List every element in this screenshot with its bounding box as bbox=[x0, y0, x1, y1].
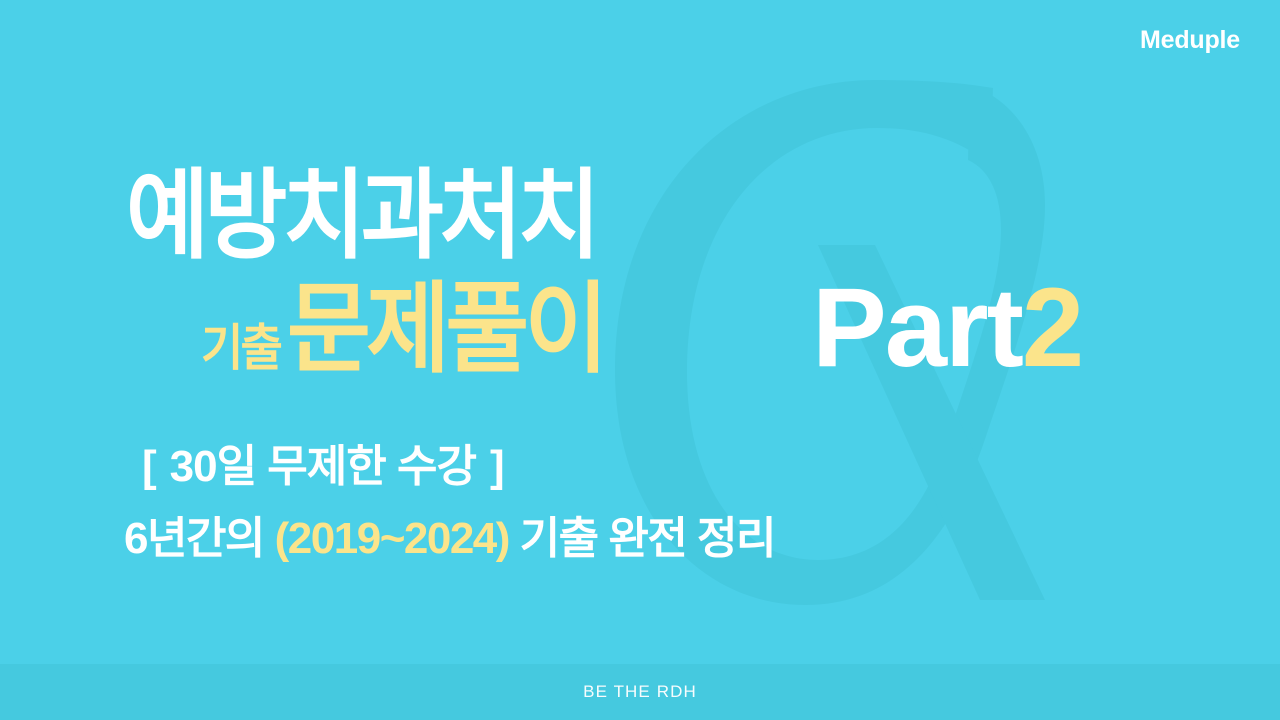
detail-line-years: 6년간의 (2019~2024) 기출 완전 정리 bbox=[124, 502, 775, 566]
headline-munje-label: 문제풀이 bbox=[287, 279, 604, 378]
duration-text: 30일 무제한 수강 bbox=[170, 442, 476, 491]
promo-slide: Meduple 예방치과처치 기출 문제풀이 Part2 [30일 무제한 수강… bbox=[0, 0, 1280, 720]
footer-tagline: BE THE RDH bbox=[583, 682, 697, 702]
years-suffix: 기출 완전 정리 bbox=[520, 514, 775, 563]
bracket-close: ] bbox=[476, 442, 518, 491]
years-prefix: 6년간의 bbox=[124, 514, 264, 563]
headline-line-2-inner: 기출 문제풀이 bbox=[201, 279, 631, 378]
part-number: 2 bbox=[1022, 265, 1082, 390]
part-label: Part bbox=[812, 265, 1022, 390]
part-badge: Part2 bbox=[812, 272, 1082, 384]
bracket-open: [ bbox=[128, 442, 170, 491]
footer-band: BE THE RDH bbox=[0, 664, 1280, 720]
years-range: (2019~2024) bbox=[275, 514, 509, 563]
headline-kichul-label: 기출 bbox=[201, 323, 280, 373]
detail-line-duration: [30일 무제한 수강] bbox=[128, 430, 518, 494]
brand-logo: Meduple bbox=[1140, 26, 1240, 55]
headline-line-1: 예방치과처치 bbox=[126, 168, 1083, 262]
